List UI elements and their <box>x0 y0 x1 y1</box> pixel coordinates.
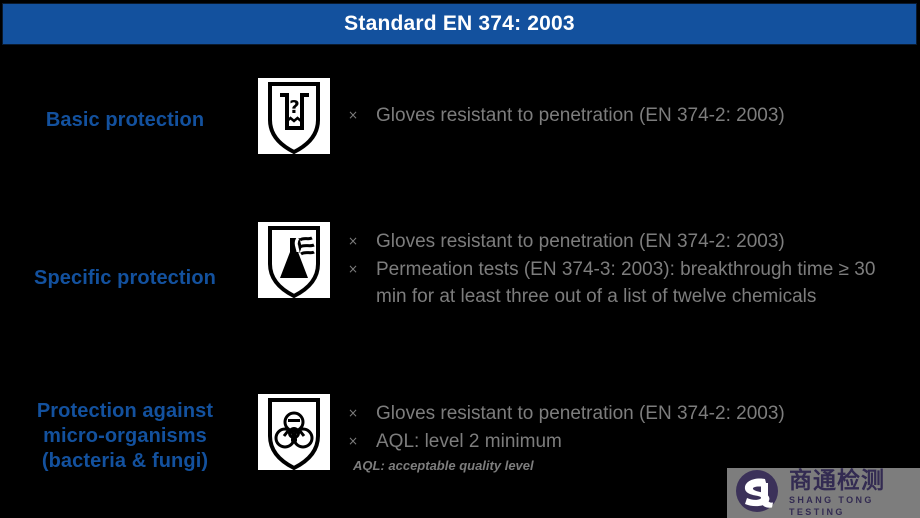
logo-text-block: 商通检测 SHANG TONG TESTING <box>787 469 920 518</box>
chemical-resistance-pictogram <box>258 222 330 298</box>
logo-mark-icon <box>731 468 787 518</box>
protection-row-specific: Specific protection × Gloves resistant t… <box>0 222 920 311</box>
bullet-item: × Gloves resistant to penetration (EN 37… <box>348 400 920 427</box>
svg-text:?: ? <box>289 97 299 118</box>
bullet-text: AQL: level 2 minimum <box>376 428 891 455</box>
protection-row-microorganisms: Protection against micro-organisms (bact… <box>0 394 920 475</box>
bullet-marker-icon: × <box>348 428 376 455</box>
protection-row-basic: Basic protection ? × Gloves resistant to… <box>0 78 920 154</box>
category-label-specific: Specific protection <box>0 222 250 291</box>
category-label-line: Protection against <box>0 399 250 424</box>
bullet-marker-icon: × <box>348 228 376 255</box>
bullet-marker-icon: × <box>348 256 376 283</box>
bullet-text: Gloves resistant to penetration (EN 374-… <box>376 228 891 255</box>
logo-name-cn: 商通检测 <box>789 469 920 494</box>
bullet-list-specific: × Gloves resistant to penetration (EN 37… <box>330 222 920 311</box>
bullet-text: Gloves resistant to penetration (EN 374-… <box>376 102 891 129</box>
category-label-line: (bacteria & fungi) <box>0 449 250 474</box>
category-label-line: micro-organisms <box>0 424 250 449</box>
bullet-marker-icon: × <box>348 102 376 129</box>
bullet-list-microorganisms: × Gloves resistant to penetration (EN 37… <box>330 394 920 475</box>
bullet-text: Gloves resistant to penetration (EN 374-… <box>376 400 891 427</box>
category-label-microorganisms: Protection against micro-organisms (bact… <box>0 394 250 474</box>
logo-name-en: SHANG TONG TESTING <box>789 494 920 518</box>
slide: Standard EN 374: 2003 Basic protection ?… <box>0 0 920 518</box>
company-logo: 商通检测 SHANG TONG TESTING <box>727 468 920 518</box>
biohazard-pictogram <box>258 394 330 470</box>
low-chemical-resistance-pictogram: ? <box>258 78 330 154</box>
bullet-item: × Gloves resistant to penetration (EN 37… <box>348 228 920 255</box>
slide-header-bar: Standard EN 374: 2003 <box>2 3 917 45</box>
bullet-item: × Permeation tests (EN 374-3: 2003): bre… <box>348 256 920 310</box>
bullet-item: × Gloves resistant to penetration (EN 37… <box>348 102 920 129</box>
bullet-marker-icon: × <box>348 400 376 427</box>
category-label-basic: Basic protection <box>0 78 250 133</box>
page-title: Standard EN 374: 2003 <box>344 12 575 36</box>
bullet-list-basic: × Gloves resistant to penetration (EN 37… <box>330 78 920 130</box>
bullet-text: Permeation tests (EN 374-3: 2003): break… <box>376 256 891 310</box>
bullet-item: × AQL: level 2 minimum <box>348 428 920 455</box>
